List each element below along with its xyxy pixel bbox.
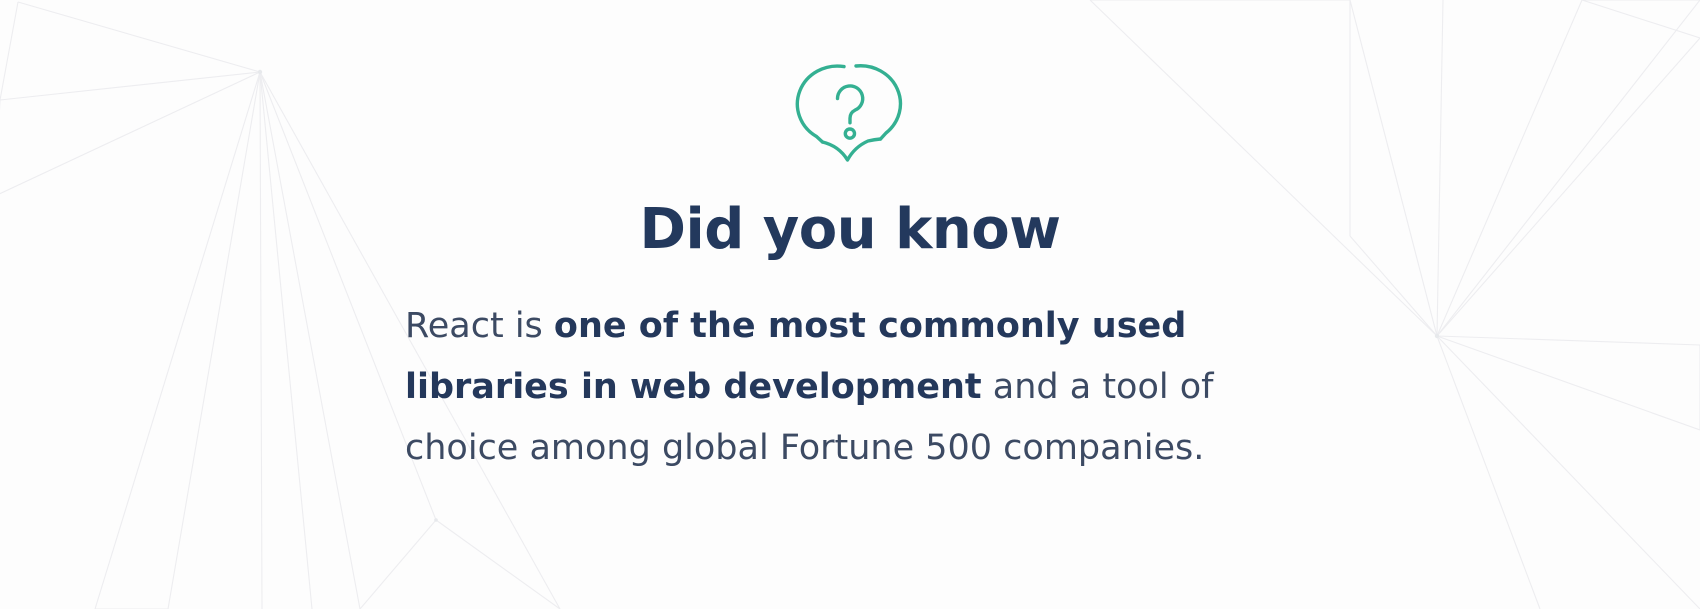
body-paragraph: React is one of the most commonly used l… bbox=[405, 296, 1295, 479]
page-title: Did you know bbox=[640, 201, 1061, 260]
did-you-know-card: Did you know React is one of the most co… bbox=[0, 0, 1700, 609]
body-segment-regular-1: React is bbox=[405, 306, 554, 346]
question-speech-bubble-icon bbox=[792, 55, 908, 171]
